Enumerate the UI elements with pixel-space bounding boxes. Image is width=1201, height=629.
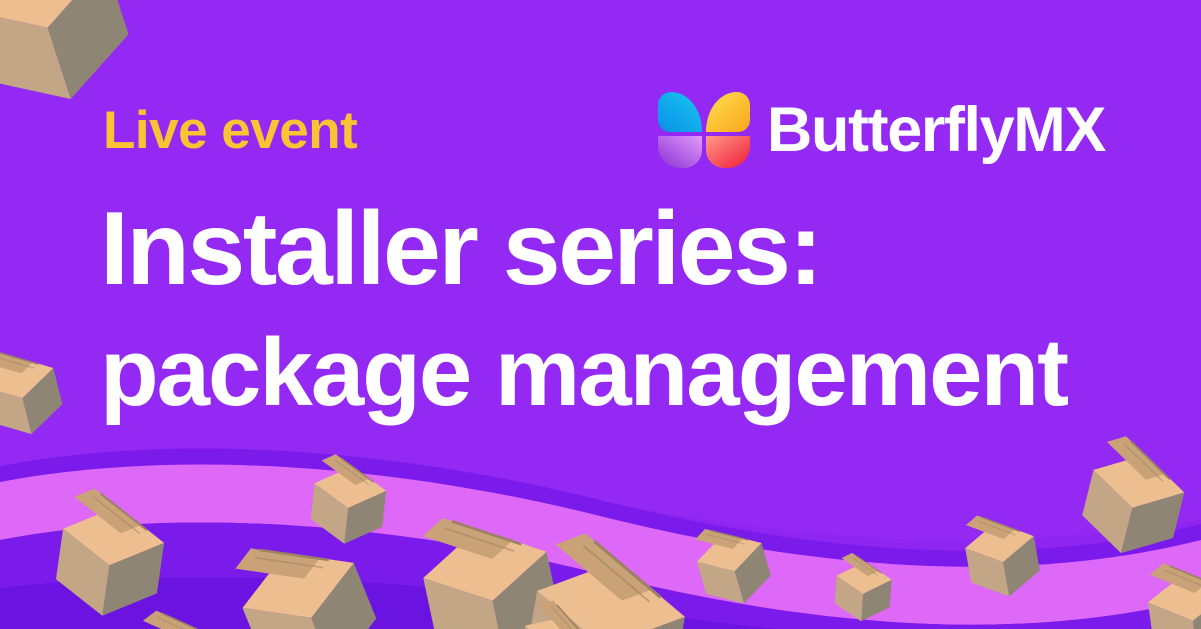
page-title: Installer series: package management [100, 197, 1160, 421]
cardboard-box-icon [1076, 431, 1195, 565]
cardboard-box-icon [834, 552, 894, 623]
cardboard-box-icon [52, 485, 170, 623]
brand-wordmark: ButterflyMX [767, 99, 1105, 162]
cardboard-box-icon [960, 506, 1043, 602]
brand-logo-lockup[interactable]: ButterflyMX [658, 92, 1105, 169]
cardboard-box-icon [1143, 555, 1201, 629]
headline-line-2: package management [100, 325, 1160, 421]
headline-line-1: Installer series: [100, 197, 1160, 301]
cardboard-box-icon [137, 604, 226, 629]
eyebrow-label: Live event [103, 104, 357, 157]
cardboard-box-icon [0, 337, 68, 443]
butterfly-logo-icon [658, 92, 750, 169]
live-event-promo-banner: Live event [0, 0, 1201, 629]
cardboard-box-icon [309, 452, 390, 547]
cardboard-box-icon [689, 515, 776, 613]
banner-header-row: Live event [103, 88, 1105, 172]
